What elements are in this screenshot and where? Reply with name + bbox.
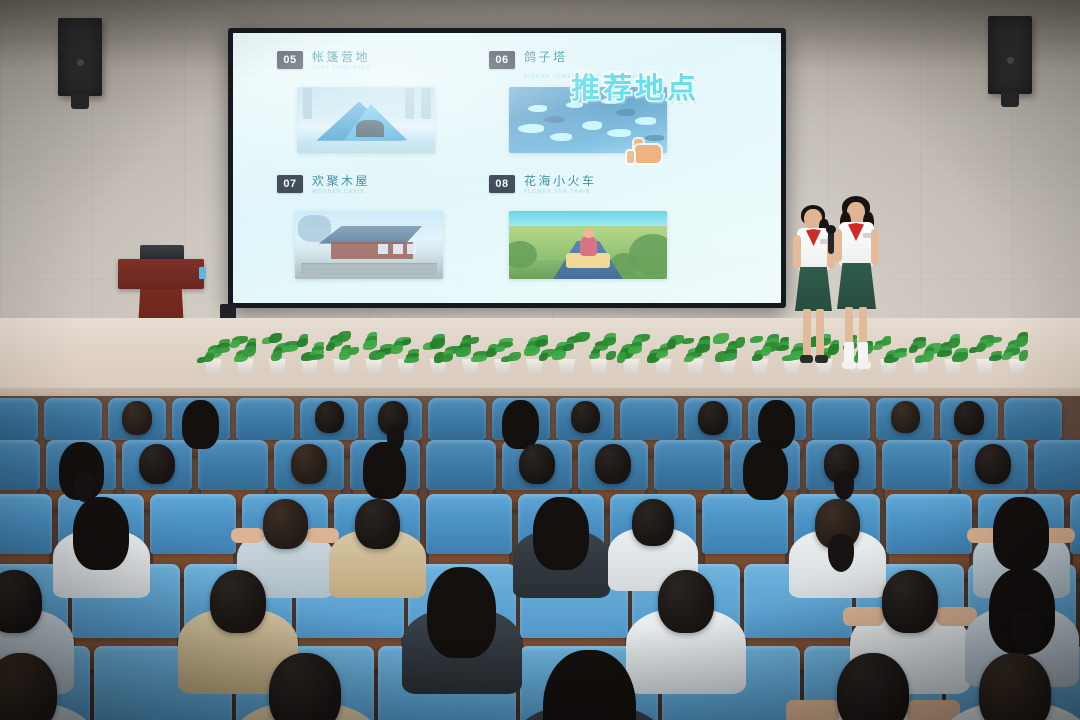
plant-pot <box>299 359 319 374</box>
handheld-microphone <box>828 230 834 254</box>
slide-item-number: 06 <box>489 51 515 69</box>
slide-item-number: 07 <box>277 175 303 193</box>
potted-plant <box>743 328 777 374</box>
auditorium-seat[interactable] <box>0 398 38 440</box>
slide-item-subtitle: PIGEON TOWER <box>524 74 576 80</box>
audience-head <box>954 401 984 435</box>
presenter-leg-left <box>845 307 853 345</box>
plant-leaf <box>337 331 351 342</box>
presenter-leg-right <box>816 309 824 357</box>
plant-leaf <box>469 337 479 344</box>
audience-arm <box>786 700 839 720</box>
slide-item-title: 花海小火车 <box>524 175 597 187</box>
plant-leaf <box>976 343 986 352</box>
audience-head <box>355 499 400 549</box>
presenter-arm-right <box>871 229 879 265</box>
plant-leaf <box>761 346 771 356</box>
audience-long-hair <box>743 442 788 500</box>
plant-pot <box>267 359 287 374</box>
slide-item-08: 08 花海小火车 FLOWER SEA TRAIN <box>489 175 597 195</box>
slide-item-title: 帐篷营地 <box>312 51 371 63</box>
audience-head <box>658 570 714 633</box>
plant-leaf <box>230 340 240 348</box>
audience-long-hair <box>502 400 539 449</box>
plant-leaf <box>682 338 694 344</box>
plant-leaf <box>495 346 505 352</box>
presentation-slide: 05 帐篷营地 TENT CAMP AREA <box>233 33 781 303</box>
slide-item-subtitle: FLOWER SEA TRAIN <box>524 189 597 195</box>
potted-plant <box>936 328 970 374</box>
presenter-leg-right <box>859 307 867 345</box>
slide-item-title: 鸽子塔 <box>524 51 646 63</box>
slide-item-titles: 欢聚木屋 WOODEN CABIN <box>312 175 370 195</box>
potted-plant <box>518 328 552 374</box>
audience-head <box>263 499 308 549</box>
plant-leaf <box>909 345 918 353</box>
auditorium-seat[interactable] <box>1034 440 1080 490</box>
podium-side-label <box>199 267 206 279</box>
presenter-leg-left <box>803 309 811 357</box>
potted-plant <box>421 328 455 374</box>
potted-plant <box>550 328 584 374</box>
plant-leaf <box>535 339 548 347</box>
plant-leaf <box>1015 336 1028 347</box>
auditorium-seat[interactable] <box>882 440 952 490</box>
audience-head <box>595 444 631 484</box>
plant-pot <box>557 359 577 374</box>
potted-plant <box>968 328 1002 374</box>
plant-leaf <box>1002 352 1012 360</box>
thumb-up-palm <box>635 145 661 163</box>
audience-ponytail <box>834 471 854 500</box>
plant-leaf <box>539 353 548 361</box>
audience-arm <box>843 607 884 626</box>
plant-leaf <box>402 339 411 345</box>
plant-pot <box>589 359 609 374</box>
presenter-shoe-left <box>842 361 856 369</box>
audience-head <box>269 653 341 720</box>
slide-item-header: 05 帐篷营地 TENT CAMP AREA <box>277 51 371 71</box>
slide-photo-flower-train <box>509 211 667 279</box>
audience-long-hair <box>73 497 129 570</box>
plant-leaf <box>376 352 385 359</box>
potted-plant <box>614 328 648 374</box>
potted-plants-row <box>0 326 1080 374</box>
speaker-cone-icon <box>77 59 84 66</box>
auditorium-seat[interactable] <box>150 494 236 554</box>
potted-plant <box>260 328 294 374</box>
slide-item-number: 05 <box>277 51 303 69</box>
wall-speaker-left <box>58 18 102 96</box>
slide-item-subtitle: WOODEN CABIN <box>312 189 370 195</box>
auditorium-seat[interactable] <box>812 398 870 440</box>
plant-leaf <box>441 354 453 362</box>
audience-long-hair <box>993 497 1049 570</box>
potted-plant <box>325 328 359 374</box>
audience-head <box>698 401 728 435</box>
presenter-right <box>832 196 882 380</box>
speaker-bracket <box>1001 92 1019 107</box>
projection-screen-frame: 05 帐篷营地 TENT CAMP AREA <box>228 28 786 308</box>
plant-leaf <box>952 352 968 362</box>
audience-head <box>139 444 175 484</box>
presenter-arm-left <box>834 229 842 262</box>
slide-item-07: 07 欢聚木屋 WOODEN CABIN <box>277 175 370 195</box>
audience-head <box>519 444 555 484</box>
auditorium-seat[interactable] <box>1004 398 1062 440</box>
projection-screen: 05 帐篷营地 TENT CAMP AREA <box>233 33 781 303</box>
auditorium-seat[interactable] <box>236 398 294 440</box>
plant-leaf <box>308 354 324 360</box>
presenter-name-badge <box>863 233 871 238</box>
auditorium-seat[interactable] <box>702 494 788 554</box>
plant-leaf <box>589 353 600 359</box>
plant-leaf <box>713 333 729 344</box>
plant-leaf <box>948 338 960 348</box>
plant-leaf <box>326 343 335 351</box>
audience-arm <box>231 528 264 543</box>
plant-leaf <box>628 346 642 354</box>
plant-leaf <box>1019 350 1028 361</box>
plant-leaf <box>937 350 952 357</box>
audience-ponytail <box>828 534 854 572</box>
potted-plant <box>196 328 230 374</box>
audience-head <box>891 401 920 433</box>
seated-student-audience <box>0 396 1080 720</box>
potted-plant <box>904 328 938 374</box>
slide-item-titles: 帐篷营地 TENT CAMP AREA <box>312 51 371 71</box>
auditorium-seat[interactable] <box>654 440 724 490</box>
auditorium-seat[interactable] <box>426 440 496 490</box>
plant-leaf <box>656 351 668 358</box>
audience-long-hair <box>533 497 589 570</box>
plant-leaf <box>563 344 574 351</box>
slide-photo-tent <box>297 87 435 153</box>
plant-leaf <box>750 336 763 343</box>
plant-leaf <box>391 345 403 354</box>
presenter-shoe-right <box>857 361 871 369</box>
potted-plant <box>228 328 262 374</box>
auditorium-seat[interactable] <box>620 398 678 440</box>
slide-item-titles: 花海小火车 FLOWER SEA TRAIN <box>524 175 597 195</box>
potted-plant <box>389 328 423 374</box>
plant-leaf <box>695 344 710 353</box>
slide-item-05: 05 帐篷营地 TENT CAMP AREA <box>277 51 371 71</box>
auditorium-seat[interactable] <box>44 398 102 440</box>
plant-leaf <box>430 338 445 349</box>
potted-plant <box>453 328 487 374</box>
auditorium-seat[interactable] <box>1070 494 1080 554</box>
presenter-shoe-left <box>800 355 813 363</box>
potted-plant <box>582 328 616 374</box>
audience-arm <box>907 700 960 720</box>
auditorium-seat[interactable] <box>426 494 512 554</box>
audience-head <box>837 653 909 720</box>
potted-plant <box>646 328 680 374</box>
speaker-bracket <box>71 94 89 109</box>
speaker-cone-icon <box>1007 57 1014 64</box>
slide-photo-cabin <box>295 211 443 279</box>
plant-pot <box>750 359 770 374</box>
audience-arm <box>306 528 339 543</box>
plant-pot <box>975 359 995 374</box>
plant-leaf <box>776 345 789 351</box>
audience-long-hair <box>182 400 219 449</box>
podium-top <box>118 259 204 289</box>
plant-pot <box>332 359 352 374</box>
plant-leaf <box>363 340 377 350</box>
audience-head <box>291 444 327 484</box>
slide-item-header: 07 欢聚木屋 WOODEN CABIN <box>277 175 370 195</box>
auditorium-seat[interactable] <box>428 398 486 440</box>
audience-head <box>571 401 600 433</box>
wall-speaker-right <box>988 16 1032 94</box>
presenter-skirt <box>837 263 876 309</box>
plant-leaf <box>404 357 419 363</box>
slide-item-subtitle: TENT CAMP AREA <box>312 65 371 71</box>
audience-head <box>979 653 1051 720</box>
potted-plant <box>678 328 712 374</box>
plant-leaf <box>297 338 308 347</box>
auditorium-scene: 05 帐篷营地 TENT CAMP AREA <box>0 0 1080 720</box>
presenter-arm-left <box>793 235 801 269</box>
potted-plant <box>292 328 326 374</box>
auditorium-seat[interactable] <box>886 494 972 554</box>
potted-plant <box>711 328 745 374</box>
audience-head <box>632 499 674 546</box>
audience-head <box>210 570 266 633</box>
audience-head <box>975 444 1011 484</box>
auditorium-seat[interactable] <box>0 440 40 490</box>
plant-pot <box>1007 359 1027 374</box>
slide-item-title: 欢聚木屋 <box>312 175 370 187</box>
presenter-shoe-right <box>815 355 828 363</box>
plant-leaf <box>456 347 471 357</box>
plant-leaf <box>552 350 566 360</box>
audience-head <box>122 401 152 435</box>
slide-item-number: 08 <box>489 175 515 193</box>
thumb-up-cuff <box>627 151 634 163</box>
potted-plant <box>485 328 519 374</box>
potted-plant <box>357 328 391 374</box>
presenter-skirt <box>795 267 832 311</box>
auditorium-seat[interactable] <box>0 494 52 554</box>
plant-leaf <box>922 351 934 362</box>
audience-head <box>882 570 938 633</box>
audience-long-hair <box>427 567 496 658</box>
audience-ponytail <box>1011 611 1042 655</box>
plant-pot <box>525 359 545 374</box>
slide-main-title: 推荐地点 <box>571 65 699 107</box>
plant-leaf <box>243 346 256 357</box>
plant-pot <box>364 359 384 374</box>
audience-long-hair <box>363 442 406 499</box>
potted-plant <box>1000 328 1034 374</box>
thumbs-up-icon <box>627 143 661 165</box>
slide-item-header: 08 花海小火车 FLOWER SEA TRAIN <box>489 175 597 195</box>
plant-leaf <box>269 333 282 343</box>
audience-head <box>315 401 344 433</box>
